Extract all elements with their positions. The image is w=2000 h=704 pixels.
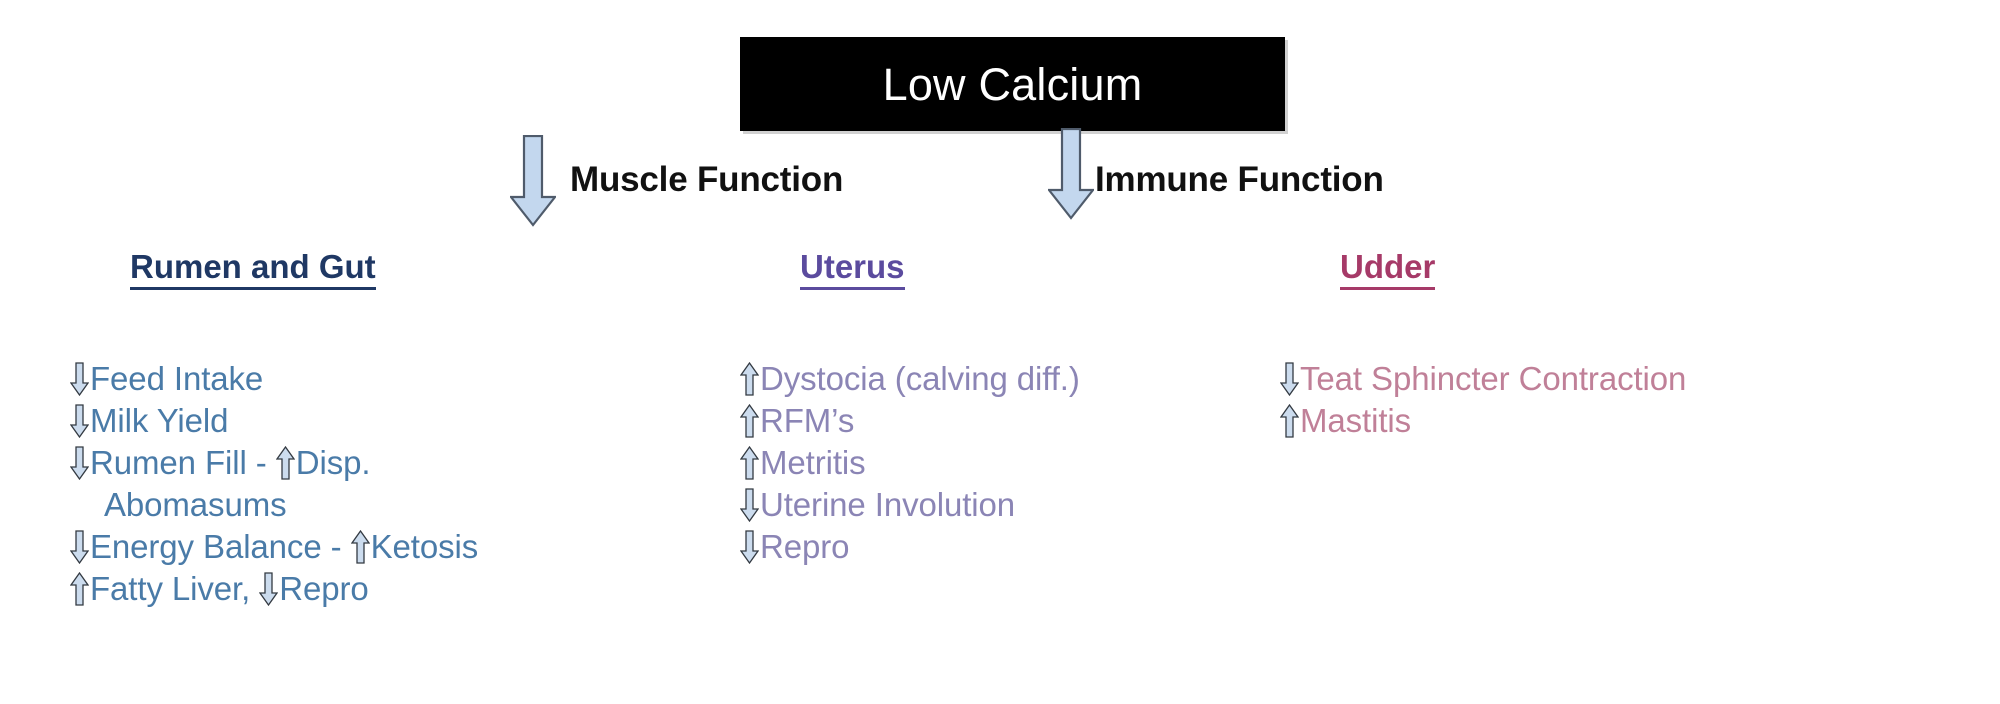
list-udder: Teat Sphincter ContractionMastitis [1280,358,2000,442]
column-heading-udder: Udder [1340,248,1435,290]
column-heading-uterus: Uterus [800,248,905,290]
list-item-label: Uterine Involution [760,486,1015,523]
list-item: Mastitis [1280,400,2000,442]
list-item-label: Mastitis [1300,402,1411,439]
down-arrow-icon [740,488,759,522]
up-arrow-icon [740,362,759,396]
list-item: Metritis [740,442,1460,484]
list-item: Energy Balance - Ketosis [70,526,790,568]
down-arrow-icon [1280,362,1299,396]
list-item-label: Abomasums [104,486,287,523]
list-item: Fatty Liver, Repro [70,568,790,610]
list-item: Teat Sphincter Contraction [1280,358,2000,400]
list-item: Uterine Involution [740,484,1460,526]
branch-label-immune-function: Immune Function [1095,160,1384,200]
list-item-label: Teat Sphincter Contraction [1300,360,1686,397]
down-arrow-icon-immune [1048,128,1094,220]
up-arrow-icon [1280,404,1299,438]
down-arrow-icon [70,530,89,564]
list-item: Milk Yield [70,400,790,442]
list-item-label: Milk Yield [90,402,228,439]
root-node-low-calcium: Low Calcium [740,37,1285,131]
down-arrow-icon-muscle [510,135,556,227]
list-item-label-secondary: Disp. [296,444,371,481]
list-item-label: Repro [760,528,849,565]
list-item-label: Energy Balance - [90,528,342,565]
column-uterus: Uterus Dystocia (calving diff.)RFM’sMetr… [800,248,905,290]
column-udder: Udder Teat Sphincter ContractionMastitis [1340,248,1435,290]
list-item: Abomasums [70,484,790,526]
column-rumen-and-gut: Rumen and Gut Feed IntakeMilk YieldRumen… [130,248,376,290]
down-arrow-icon [740,530,759,564]
down-arrow-icon [70,446,89,480]
list-item-label: Dystocia (calving diff.) [760,360,1080,397]
list-item-label-secondary: Ketosis [371,528,479,565]
list-item-label: Metritis [760,444,866,481]
list-rumen-and-gut: Feed IntakeMilk YieldRumen Fill - Disp.A… [70,358,790,609]
up-arrow-icon [351,530,370,564]
list-item-label: Rumen Fill - [90,444,267,481]
down-arrow-icon [70,362,89,396]
list-item-label: Fatty Liver, [90,570,250,607]
low-calcium-diagram: Low Calcium Muscle Function Immune Funct… [0,0,2000,704]
down-arrow-icon [70,404,89,438]
list-item: Rumen Fill - Disp. [70,442,790,484]
root-node-label: Low Calcium [883,62,1143,107]
list-item-label: RFM’s [760,402,854,439]
up-arrow-icon [276,446,295,480]
up-arrow-icon [740,446,759,480]
list-item: Feed Intake [70,358,790,400]
list-item-label-secondary: Repro [279,570,368,607]
list-item: Repro [740,526,1460,568]
up-arrow-icon [70,572,89,606]
list-item-label: Feed Intake [90,360,263,397]
column-heading-rumen-and-gut: Rumen and Gut [130,248,376,290]
up-arrow-icon [740,404,759,438]
down-arrow-icon [259,572,278,606]
branch-label-muscle-function: Muscle Function [570,160,843,200]
